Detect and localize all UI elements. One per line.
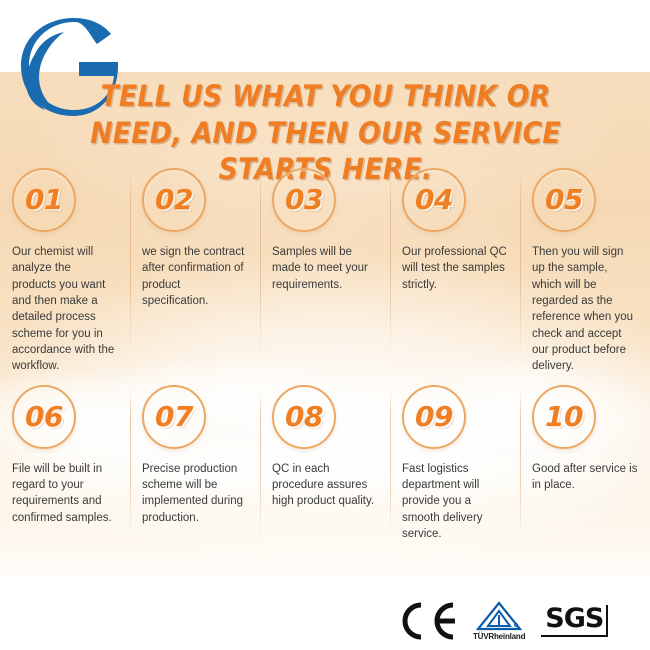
step-number-badge: 09 — [402, 385, 466, 449]
step-number: 09 — [415, 403, 453, 431]
tuv-wordmark: TÜVRheinland — [473, 632, 525, 641]
step-description: Then you will sign up the sample, which … — [528, 244, 640, 375]
step-number-badge: 03 — [272, 168, 336, 232]
step-card-04[interactable]: 04 Our professional QC will test the sam… — [390, 168, 520, 375]
step-card-07[interactable]: 07 Precise production scheme will be imp… — [130, 385, 260, 543]
step-number-badge: 05 — [532, 168, 596, 232]
step-description: Precise production scheme will be implem… — [138, 461, 250, 526]
step-number-badge: 08 — [272, 385, 336, 449]
step-description: Our professional QC will test the sample… — [398, 244, 510, 293]
step-description: Samples will be made to meet your requir… — [268, 244, 380, 293]
step-number-badge: 04 — [402, 168, 466, 232]
step-description: File will be built in regard to your req… — [8, 461, 120, 526]
ce-mark-icon — [395, 601, 457, 642]
step-number: 05 — [545, 186, 583, 214]
infographic-canvas: TELL US WHAT YOU THINK OR NEED, AND THEN… — [0, 0, 650, 650]
step-card-09[interactable]: 09 Fast logistics department will provid… — [390, 385, 520, 543]
step-number: 10 — [545, 403, 583, 431]
column-divider — [520, 389, 521, 539]
step-description: Fast logistics department will provide y… — [398, 461, 510, 543]
step-number: 07 — [155, 403, 193, 431]
step-card-06[interactable]: 06 File will be built in regard to your … — [0, 385, 130, 543]
rheinland-label: Rheinland — [488, 632, 525, 641]
column-divider — [390, 389, 391, 539]
step-number-badge: 10 — [532, 385, 596, 449]
column-divider — [390, 172, 391, 358]
column-divider — [260, 389, 261, 539]
sgs-logo: SGS — [541, 605, 608, 636]
step-card-08[interactable]: 08 QC in each procedure assures high pro… — [260, 385, 390, 543]
step-number: 03 — [285, 186, 323, 214]
step-number: 02 — [155, 186, 193, 214]
column-divider — [260, 172, 261, 358]
step-description: QC in each procedure assures high produc… — [268, 461, 380, 510]
step-card-10[interactable]: 10 Good after service is in place. — [520, 385, 650, 543]
column-divider — [520, 172, 521, 358]
step-description: Good after service is in place. — [528, 461, 640, 494]
step-card-01[interactable]: 01 Our chemist will analyze the products… — [0, 168, 130, 375]
column-divider — [130, 389, 131, 539]
steps-row-2: 06 File will be built in regard to your … — [0, 385, 650, 543]
tuv-rheinland-logo: TÜVRheinland — [473, 601, 525, 641]
step-number-badge: 07 — [142, 385, 206, 449]
step-description: Our chemist will analyze the products yo… — [8, 244, 120, 375]
step-description: we sign the contract after confirmation … — [138, 244, 250, 309]
column-divider — [130, 172, 131, 358]
step-card-05[interactable]: 05 Then you will sign up the sample, whi… — [520, 168, 650, 375]
step-number: 06 — [25, 403, 63, 431]
certification-logos: TÜVRheinland SGS — [395, 598, 635, 644]
step-number: 01 — [25, 186, 63, 214]
steps-row-1: 01 Our chemist will analyze the products… — [0, 168, 650, 375]
tuv-label: TÜV — [473, 632, 488, 641]
step-number-badge: 01 — [12, 168, 76, 232]
steps-grid: 01 Our chemist will analyze the products… — [0, 168, 650, 542]
step-number-badge: 06 — [12, 385, 76, 449]
step-card-02[interactable]: 02 we sign the contract after confirmati… — [130, 168, 260, 375]
step-card-03[interactable]: 03 Samples will be made to meet your req… — [260, 168, 390, 375]
step-number: 04 — [415, 186, 453, 214]
step-number-badge: 02 — [142, 168, 206, 232]
step-number: 08 — [285, 403, 323, 431]
